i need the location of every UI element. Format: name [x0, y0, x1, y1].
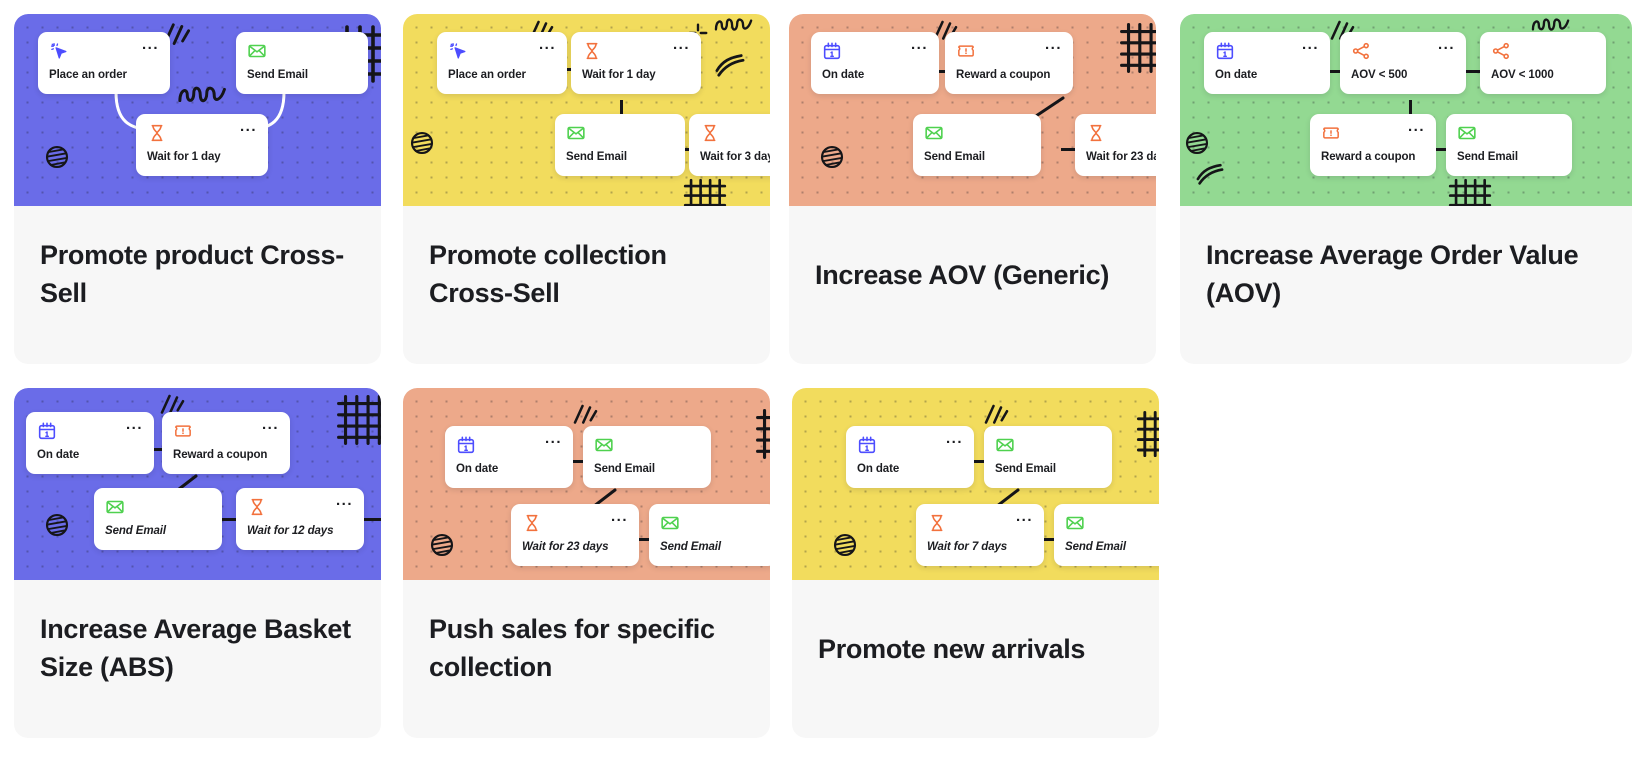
waves-doodle-icon	[713, 50, 747, 78]
grid-hash-doodle-icon	[683, 178, 727, 206]
node-label: Send Email	[566, 151, 674, 163]
card-title: Increase Average Basket Size (ABS)	[14, 580, 381, 687]
node-menu-button[interactable]: ...	[1438, 41, 1455, 49]
node-label: Send Email	[247, 69, 357, 81]
node-menu-button[interactable]: ...	[1408, 123, 1425, 131]
node-label: Wait for 12 days	[247, 525, 353, 537]
card-title: Promote product Cross-Sell	[14, 206, 381, 313]
workflow-node[interactable]: Send Email	[583, 426, 711, 488]
calendar-icon	[456, 435, 476, 455]
template-card-push-sales-for-specific-collection[interactable]: ... On date Send Email ... Wait for 23 d…	[403, 388, 770, 738]
node-menu-button[interactable]: ...	[262, 421, 279, 429]
card-title: Increase Average Order Value (AOV)	[1180, 206, 1632, 313]
workflow-node[interactable]: ... Wait for 7 days	[916, 504, 1044, 566]
envelope-icon	[247, 41, 267, 61]
grid-hash-doodle-icon	[755, 408, 770, 460]
workflow-node[interactable]: ... AOV < 500	[1340, 32, 1466, 94]
node-menu-button[interactable]: ...	[336, 497, 353, 505]
workflow-node[interactable]: ... Reward a coupon	[945, 32, 1073, 94]
striped-sphere-doodle-icon	[44, 512, 70, 538]
node-label: Reward a coupon	[956, 69, 1062, 81]
hourglass-icon	[147, 123, 167, 143]
coupon-icon	[1321, 123, 1341, 143]
node-label: Wait for 1 day	[147, 151, 257, 163]
workflow-node[interactable]: ... On date	[1204, 32, 1330, 94]
node-label: Send Email	[105, 525, 211, 537]
workflow-node[interactable]: ... On date	[811, 32, 939, 94]
workflow-node[interactable]: ... Reward a coupon	[162, 412, 290, 474]
striped-sphere-doodle-icon	[409, 130, 435, 156]
node-menu-button[interactable]: ...	[611, 513, 628, 521]
node-label: On date	[37, 449, 143, 461]
node-label: Reward a coupon	[173, 449, 279, 461]
striped-sphere-doodle-icon	[832, 532, 858, 558]
card-illustration-banner: ... Place an order ... Wait for 1 day Se…	[403, 14, 770, 206]
card-title: Promote collection Cross-Sell	[403, 206, 770, 313]
calendar-icon	[37, 421, 57, 441]
connector-line	[1466, 70, 1480, 73]
node-label: Send Email	[594, 463, 700, 475]
card-illustration-banner: ... On date Send Email ... Wait for 7 da…	[792, 388, 1159, 580]
workflow-node[interactable]: ... Place an order	[38, 32, 170, 94]
node-label: AOV < 500	[1351, 69, 1455, 81]
hourglass-icon	[582, 41, 602, 61]
card-illustration-banner: ... On date ... Reward a coupon Send Ema…	[14, 388, 381, 580]
card-illustration-banner: ... On date ... Reward a coupon Send Ema…	[789, 14, 1156, 206]
workflow-node[interactable]: Send Email	[1054, 504, 1159, 566]
workflow-node[interactable]: ... Place an order	[437, 32, 567, 94]
coupon-icon	[173, 421, 193, 441]
node-menu-button[interactable]: ...	[1302, 41, 1319, 49]
node-menu-button[interactable]: ...	[126, 421, 143, 429]
striped-sphere-doodle-icon	[819, 144, 845, 170]
workflow-node[interactable]: ... Reward a coupon	[1310, 114, 1436, 176]
node-label: On date	[857, 463, 963, 475]
grid-hash-doodle-icon	[336, 394, 381, 446]
hourglass-icon	[927, 513, 947, 533]
envelope-icon	[924, 123, 944, 143]
node-label: AOV < 1000	[1491, 69, 1595, 81]
template-gallery: ... Place an order Send Email ... Wait f…	[0, 0, 1632, 778]
node-menu-button[interactable]: ...	[1016, 513, 1033, 521]
workflow-node[interactable]: ... Wait for 12 days	[236, 488, 364, 550]
workflow-node[interactable]: Send Email	[236, 32, 368, 94]
node-label: On date	[456, 463, 562, 475]
template-card-increase-average-order-value-aov[interactable]: ... On date ... AOV < 500 AOV < 1000	[1180, 14, 1632, 364]
card-title: Promote new arrivals	[792, 580, 1159, 668]
striped-sphere-doodle-icon	[44, 144, 70, 170]
card-illustration-banner: ... On date ... AOV < 500 AOV < 1000	[1180, 14, 1632, 206]
striped-sphere-doodle-icon	[429, 532, 455, 558]
envelope-icon	[995, 435, 1015, 455]
node-menu-button[interactable]: ...	[240, 123, 257, 131]
node-menu-button[interactable]: ...	[545, 435, 562, 443]
node-label: Wait for 7 days	[927, 541, 1033, 553]
split-icon	[1491, 41, 1511, 61]
node-label: Wait for 3 days	[700, 151, 770, 163]
node-label: Wait for 1 day	[582, 69, 690, 81]
envelope-icon	[1065, 513, 1085, 533]
node-label: Send Email	[924, 151, 1030, 163]
workflow-node[interactable]: Send Email	[1446, 114, 1572, 176]
node-label: Place an order	[49, 69, 159, 81]
envelope-icon	[1457, 123, 1477, 143]
node-label: Send Email	[1065, 541, 1159, 553]
node-menu-button[interactable]: ...	[673, 41, 690, 49]
node-label: Send Email	[1457, 151, 1561, 163]
template-card-increase-aov-generic[interactable]: ... On date ... Reward a coupon Send Ema…	[789, 14, 1156, 364]
node-label: Place an order	[448, 69, 556, 81]
envelope-icon	[594, 435, 614, 455]
workflow-node[interactable]: Send Email	[555, 114, 685, 176]
node-label: Wait for 23 days	[1086, 151, 1156, 163]
node-menu-button[interactable]: ...	[539, 41, 556, 49]
workflow-node[interactable]: .. Wait for 23 days	[1075, 114, 1156, 176]
workflow-node[interactable]: Send Email	[984, 426, 1112, 488]
calendar-icon	[857, 435, 877, 455]
node-label: Send Email	[660, 541, 766, 553]
workflow-node[interactable]: ... On date	[445, 426, 573, 488]
node-label: Send Email	[995, 463, 1101, 475]
calendar-icon	[1215, 41, 1235, 61]
card-illustration-banner: ... On date Send Email ... Wait for 23 d…	[403, 388, 770, 580]
node-menu-button[interactable]: ...	[946, 435, 963, 443]
card-title: Increase AOV (Generic)	[789, 206, 1156, 294]
node-menu-button[interactable]: ...	[911, 41, 928, 49]
node-label: Wait for 23 days	[522, 541, 628, 553]
hourglass-icon	[1086, 123, 1106, 143]
hourglass-icon	[247, 497, 267, 517]
coil-doodle-icon	[176, 82, 232, 108]
workflow-node[interactable]: ... On date	[26, 412, 154, 474]
template-card-promote-collection-cross-sell[interactable]: ... Place an order ... Wait for 1 day Se…	[403, 14, 770, 364]
envelope-icon	[105, 497, 125, 517]
waves-doodle-icon	[1194, 160, 1226, 186]
workflow-node[interactable]: ... Wait for 1 day	[571, 32, 701, 94]
hourglass-icon	[522, 513, 542, 533]
envelope-icon	[660, 513, 680, 533]
coupon-icon	[956, 41, 976, 61]
split-icon	[1351, 41, 1371, 61]
card-title: Push sales for specific collection	[403, 580, 770, 687]
workflow-node[interactable]: ... Wait for 23 days	[511, 504, 639, 566]
hourglass-icon	[700, 123, 720, 143]
node-menu-button[interactable]: ...	[142, 41, 159, 49]
cursor-click-icon	[49, 41, 69, 61]
envelope-icon	[566, 123, 586, 143]
workflow-node[interactable]: Send Email	[649, 504, 770, 566]
node-label: On date	[822, 69, 928, 81]
workflow-node[interactable]: AOV < 1000	[1480, 32, 1606, 94]
template-card-promote-product-cross-sell[interactable]: ... Place an order Send Email ... Wait f…	[14, 14, 381, 364]
grid-hash-doodle-icon	[1448, 178, 1492, 206]
node-label: Reward a coupon	[1321, 151, 1425, 163]
cursor-click-icon	[448, 41, 468, 61]
workflow-node[interactable]: Send Email	[913, 114, 1041, 176]
card-illustration-banner: ... Place an order Send Email ... Wait f…	[14, 14, 381, 206]
workflow-node[interactable]: ... On date	[846, 426, 974, 488]
template-card-promote-new-arrivals[interactable]: ... On date Send Email ... Wait for 7 da…	[792, 388, 1159, 738]
grid-hash-doodle-icon	[1136, 410, 1159, 458]
template-card-increase-average-basket-size-abs[interactable]: ... On date ... Reward a coupon Send Ema…	[14, 388, 381, 738]
workflow-node[interactable]: ... Wait for 1 day	[136, 114, 268, 176]
workflow-node[interactable]: Send Email	[94, 488, 222, 550]
node-label: On date	[1215, 69, 1319, 81]
node-menu-button[interactable]: ...	[1045, 41, 1062, 49]
striped-sphere-doodle-icon	[1184, 130, 1210, 156]
coil-doodle-icon	[713, 14, 757, 36]
workflow-node[interactable]: Wait for 3 days	[689, 114, 770, 176]
grid-hash-doodle-icon	[1119, 22, 1156, 74]
calendar-icon	[822, 41, 842, 61]
